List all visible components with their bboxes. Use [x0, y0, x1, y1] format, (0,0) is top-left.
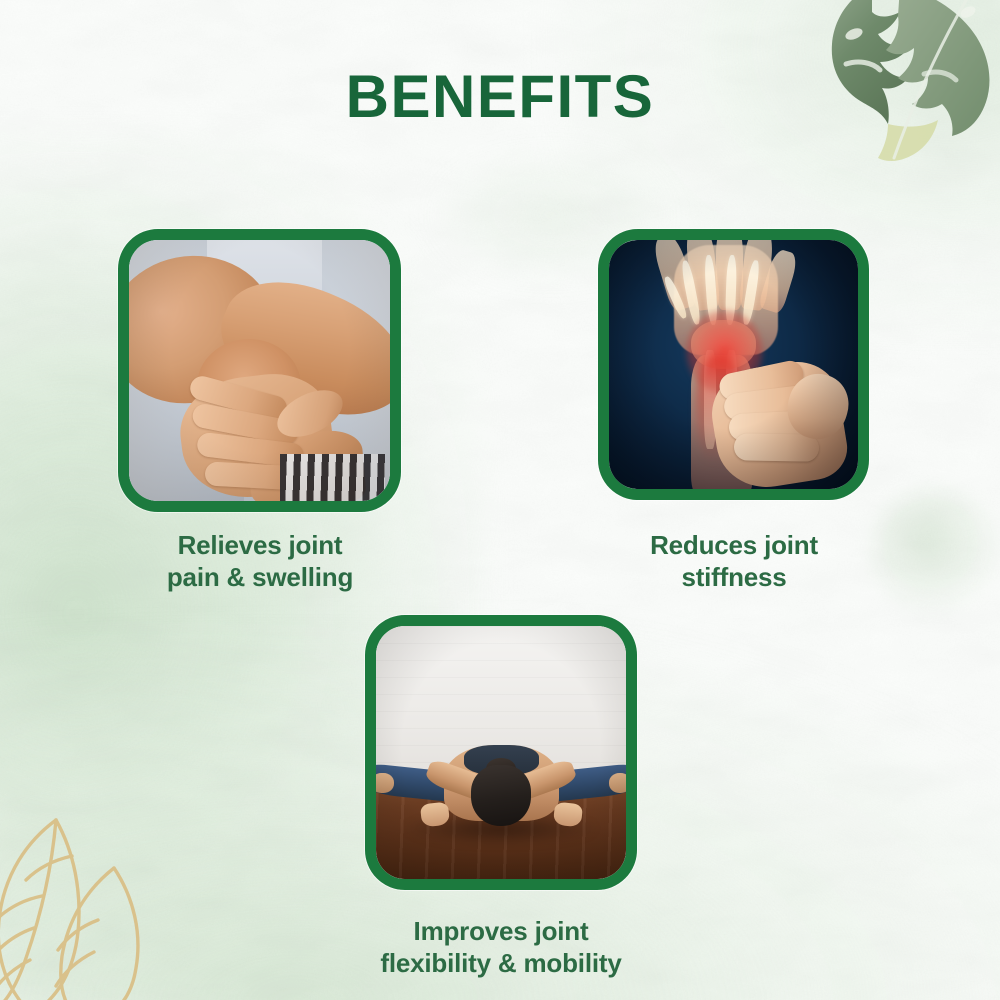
benefit-image-wrist-xray: [609, 240, 858, 489]
benefit-caption-improves-joint-flexibility: Improves joint flexibility & mobility: [340, 916, 662, 979]
page-title: BENEFITS: [0, 62, 1000, 131]
benefit-caption-reduces-joint-stiffness: Reduces joint stiffness: [578, 530, 890, 593]
benefits-infographic: BENEFITS Relieves joint: [0, 0, 1000, 1000]
caption-line-2: pain & swelling: [105, 562, 415, 594]
gold-outline-leaf-icon: [0, 808, 201, 1000]
caption-line-1: Improves joint: [340, 916, 662, 948]
caption-line-1: Relieves joint: [105, 530, 415, 562]
caption-line-2: stiffness: [578, 562, 890, 594]
benefit-card-relieves-joint-pain[interactable]: [118, 229, 401, 512]
caption-line-2: flexibility & mobility: [340, 948, 662, 980]
benefit-image-yoga-pose: [376, 626, 626, 879]
benefit-caption-relieves-joint-pain: Relieves joint pain & swelling: [105, 530, 415, 593]
benefit-card-reduces-joint-stiffness[interactable]: [598, 229, 869, 500]
benefit-image-elbow-pain: [129, 240, 390, 501]
caption-line-1: Reduces joint: [578, 530, 890, 562]
benefit-card-improves-joint-flexibility[interactable]: [365, 615, 637, 890]
background-blob-right: [872, 490, 998, 610]
